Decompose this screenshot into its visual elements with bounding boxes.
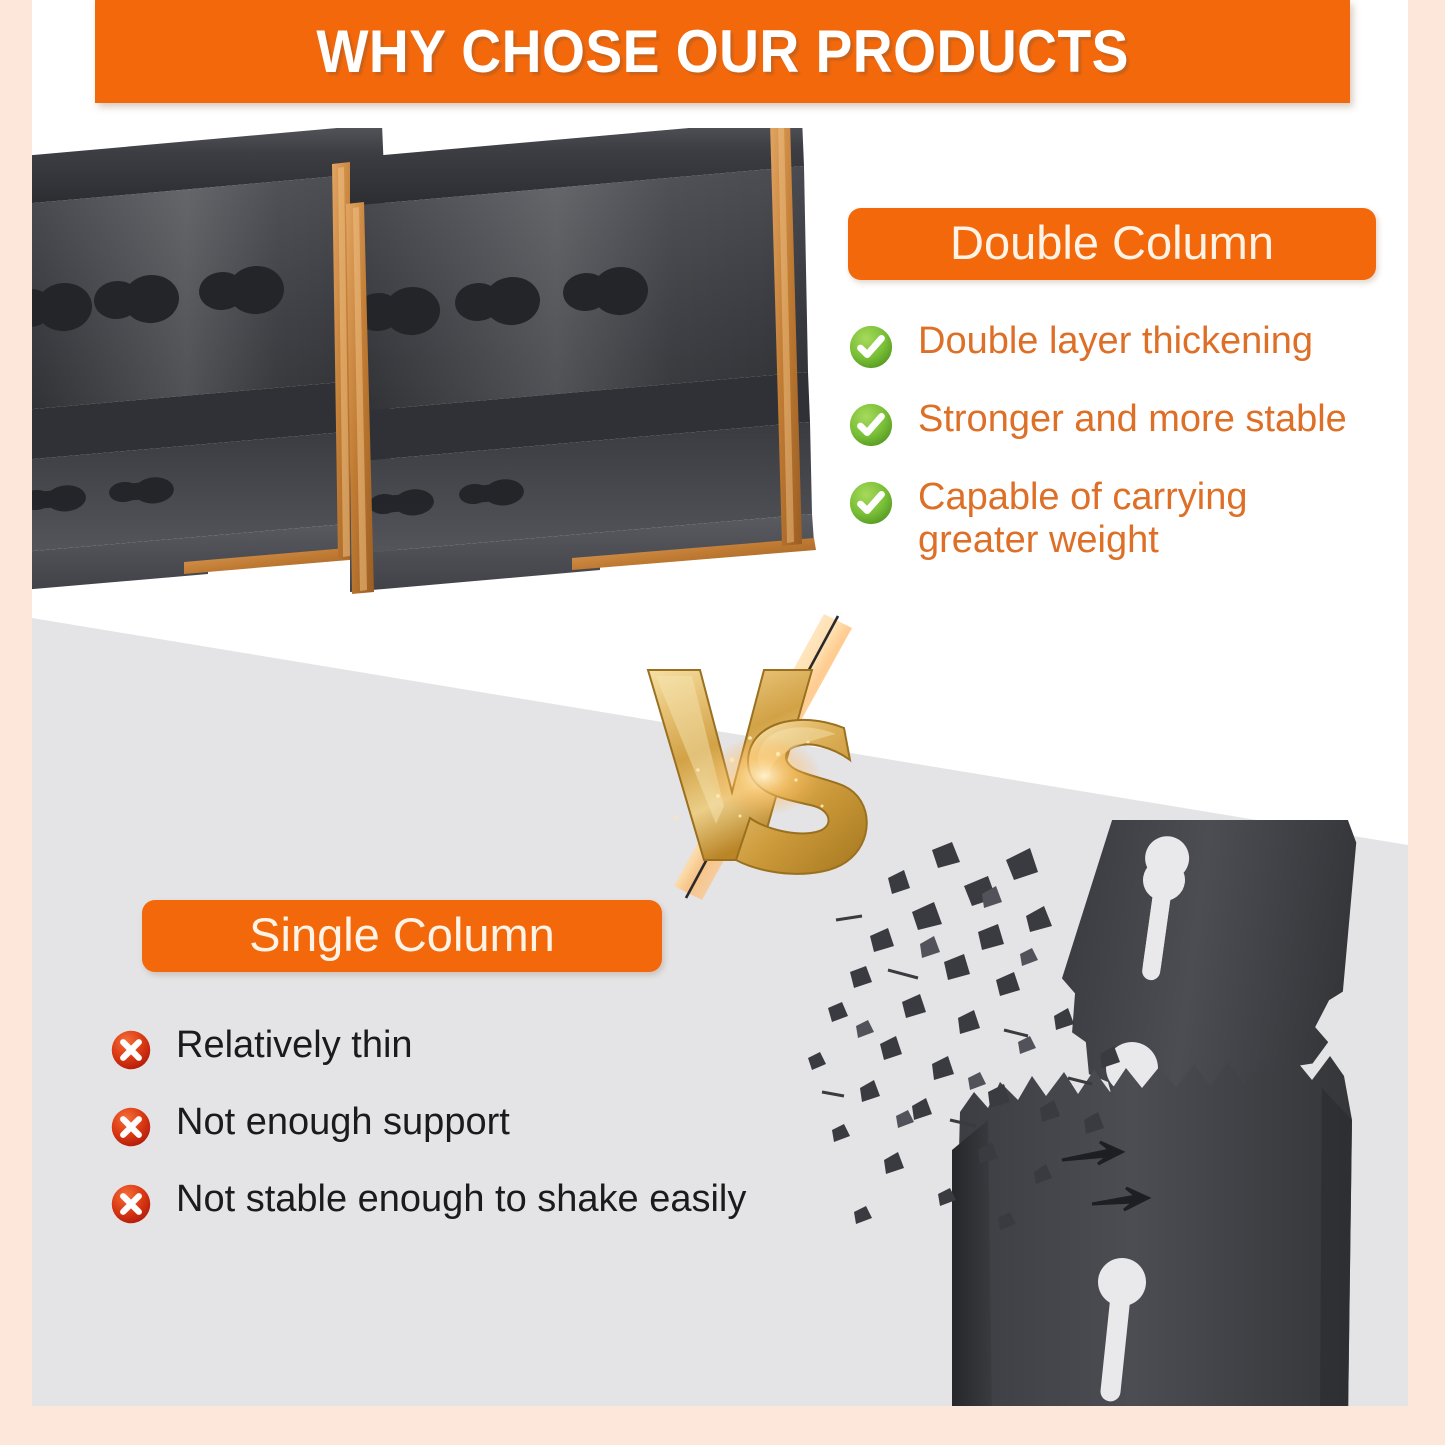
page-title: WHY CHOSE OUR PRODUCTS [316,17,1129,86]
list-item-label: Double layer thickening [894,320,1313,363]
double-column-badge: Double Column [848,208,1376,280]
double-column-badge-label: Double Column [950,216,1274,269]
x-circle-icon [110,1029,152,1071]
single-column-badge-label: Single Column [249,908,555,961]
check-circle-icon [848,480,894,526]
check-circle-icon [848,324,894,370]
list-item-label: Capable of carrying greater weight [894,476,1348,561]
check-circle-icon [848,402,894,448]
x-circle-icon [110,1106,152,1148]
list-item: Double layer thickening [848,320,1408,370]
double-column-steel-rails-photo [32,128,822,628]
list-item: Stronger and more stable [848,398,1408,448]
x-circle-icon [110,1183,152,1225]
list-item: Not stable enough to shake easily [110,1178,870,1225]
versus-emblem [612,610,942,910]
list-item: Relatively thin [110,1024,870,1071]
single-column-panel: Single Column [110,900,870,1255]
list-item: Capable of carrying greater weight [848,476,1408,561]
content-canvas: Double Column [32,0,1408,1406]
infographic-page: Double Column [0,0,1445,1445]
list-item-label: Not enough support [152,1101,510,1144]
list-item: Not enough support [110,1101,870,1148]
double-column-feature-list: Double layer thickening Stronger and mor… [848,320,1408,561]
double-column-panel: Double Column [848,208,1408,589]
list-item-label: Stronger and more stable [894,398,1347,441]
single-column-badge: Single Column [142,900,662,972]
single-column-feature-list: Relatively thin Not enough support [110,1024,870,1225]
list-item-label: Relatively thin [152,1024,413,1067]
header-banner: WHY CHOSE OUR PRODUCTS [95,0,1350,103]
list-item-label: Not stable enough to shake easily [152,1178,746,1221]
